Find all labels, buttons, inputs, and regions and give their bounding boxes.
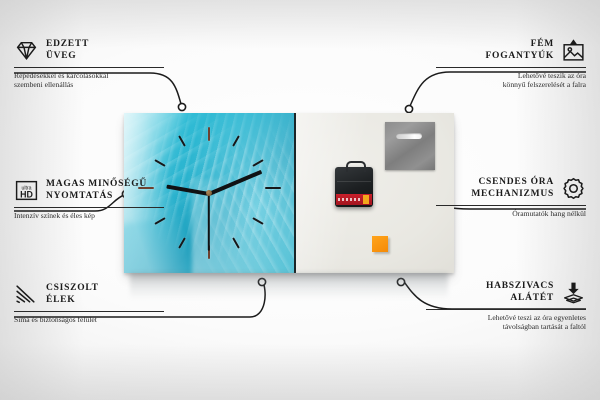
callout-divider <box>14 67 164 68</box>
diamond-icon <box>14 38 39 63</box>
mechanism-label <box>336 194 372 205</box>
callout-header: CSISZOLT ÉLEK <box>14 282 164 307</box>
callout-description: Sima és biztonságos felület <box>14 315 164 325</box>
callout-divider <box>436 67 586 68</box>
callout-habszivacs-alatet: HABSZIVACS ALÁTÉT Lehetővé teszi az óra … <box>426 280 586 332</box>
callout-divider <box>14 311 164 312</box>
callout-description: Lehetővé teszik az óra könnyű felszerelé… <box>436 71 586 90</box>
callout-divider <box>436 205 586 206</box>
callout-description: Óramutatók hang nélkül <box>436 209 586 219</box>
callout-title: HABSZIVACS ALÁTÉT <box>486 281 554 304</box>
callout-divider <box>426 309 586 310</box>
callout-title: MAGAS MINŐSÉGŰ NYOMTATÁS <box>46 179 147 202</box>
callout-description: Repedésekkel és karcolásokkal szembeni e… <box>14 71 164 90</box>
callout-title: CSENDES ÓRA MECHANIZMUS <box>471 177 554 200</box>
clock-tick <box>208 127 210 141</box>
callout-header: FÉM FOGANTYÚK <box>436 38 586 63</box>
hanger-slot <box>396 133 422 139</box>
callout-divider <box>14 207 164 208</box>
clock-tick <box>265 187 281 189</box>
callout-description: Intenzív színek és éles kép <box>14 211 164 221</box>
callout-title: EDZETT ÜVEG <box>46 39 89 62</box>
mechanism-label-text <box>338 198 362 201</box>
callout-header: HABSZIVACS ALÁTÉT <box>426 280 586 305</box>
mechanism-seam <box>337 181 371 182</box>
polished-edges-icon <box>14 282 39 307</box>
callout-fem-fogantyuk: FÉM FOGANTYÚK Lehetővé teszik az óra kön… <box>436 38 586 90</box>
clock-back-panel <box>296 113 454 273</box>
svg-text:HD: HD <box>20 189 33 199</box>
infographic-canvas: EDZETT ÜVEG Repedésekkel és karcolásokka… <box>0 0 600 400</box>
callout-description: Lehetővé teszi az óra egyenletes távolsá… <box>426 313 586 332</box>
callout-header: EDZETT ÜVEG <box>14 38 164 63</box>
callout-csiszolt-elek: CSISZOLT ÉLEK Sima és biztonságos felüle… <box>14 282 164 324</box>
gear-icon <box>561 176 586 201</box>
clock-center-pin <box>206 190 212 196</box>
foam-pad-icon <box>561 280 586 305</box>
product-image <box>124 113 454 273</box>
callout-magas-minosegu-nyomtatas: ultra HD MAGAS MINŐSÉGŰ NYOMTATÁS Intenz… <box>14 178 164 220</box>
callout-edzett-uveg: EDZETT ÜVEG Repedésekkel és karcolásokka… <box>14 38 164 90</box>
picture-hanger-icon <box>561 38 586 63</box>
clock-mechanism-part <box>335 167 373 207</box>
clock-hand-second <box>208 194 210 251</box>
callout-csendes-ora-mechanizmus: CSENDES ÓRA MECHANIZMUS Óramutatók hang … <box>436 176 586 218</box>
callout-header: ultra HD MAGAS MINŐSÉGŰ NYOMTATÁS <box>14 178 164 203</box>
metal-hanger-part <box>385 122 435 170</box>
foam-pad-part <box>372 236 388 252</box>
callout-title: CSISZOLT ÉLEK <box>46 283 99 306</box>
callout-title: FÉM FOGANTYÚK <box>486 39 555 62</box>
callout-header: CSENDES ÓRA MECHANIZMUS <box>436 176 586 201</box>
ultra-hd-icon: ultra HD <box>14 178 39 203</box>
mechanism-hook <box>346 161 366 172</box>
